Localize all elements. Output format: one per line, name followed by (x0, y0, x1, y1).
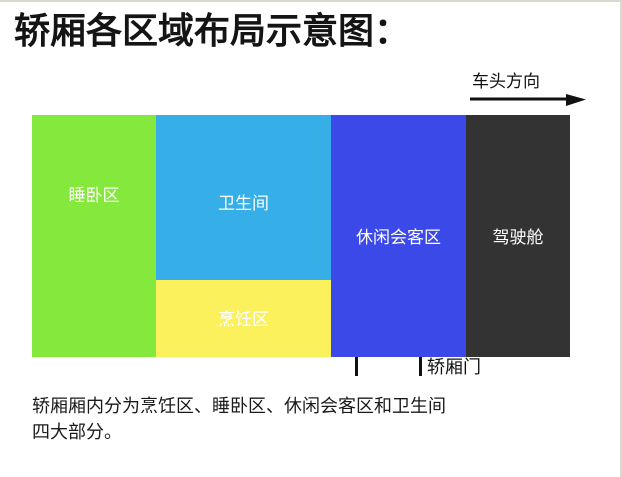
cabin-layout-diagram: 睡卧区 卫生间 烹饪区 休闲会客区 驾驶舱 (32, 115, 570, 357)
caption-block: 轿厢厢内分为烹饪区、睡卧区、休闲会客区和卫生间 四大部分。 (32, 394, 592, 446)
zone-sleeping-area[interactable]: 睡卧区 (32, 115, 156, 357)
door-label: 轿厢门 (427, 357, 481, 379)
caption-line-2: 四大部分。 (32, 420, 592, 446)
door-tick-left (355, 357, 358, 376)
diagram-page: 轿厢各区域布局示意图： 车头方向 睡卧区 卫生间 烹饪区 休闲会客区 驾驶舱 轿… (0, 0, 622, 477)
zone-label-lounge-area: 休闲会客区 (331, 227, 466, 249)
zone-bathroom[interactable]: 卫生间 (156, 115, 331, 280)
zone-label-bathroom: 卫生间 (156, 193, 331, 215)
caption-line-1: 轿厢厢内分为烹饪区、睡卧区、休闲会客区和卫生间 (32, 394, 592, 420)
zone-lounge-area[interactable]: 休闲会客区 (331, 115, 466, 357)
zone-cooking-area[interactable]: 烹饪区 (156, 280, 331, 357)
zone-label-cooking-area: 烹饪区 (156, 309, 331, 331)
door-tick-right (419, 357, 422, 376)
page-title: 轿厢各区域布局示意图： (14, 9, 410, 55)
direction-indicator: 车头方向 (470, 72, 590, 112)
cabin-door-marker: 轿厢门 (350, 357, 580, 387)
arrow-right-icon (470, 94, 586, 108)
zone-label-sleeping-area: 睡卧区 (32, 185, 156, 207)
direction-label: 车头方向 (472, 72, 540, 92)
zone-cockpit[interactable]: 驾驶舱 (466, 115, 570, 357)
zone-label-cockpit: 驾驶舱 (466, 227, 570, 249)
